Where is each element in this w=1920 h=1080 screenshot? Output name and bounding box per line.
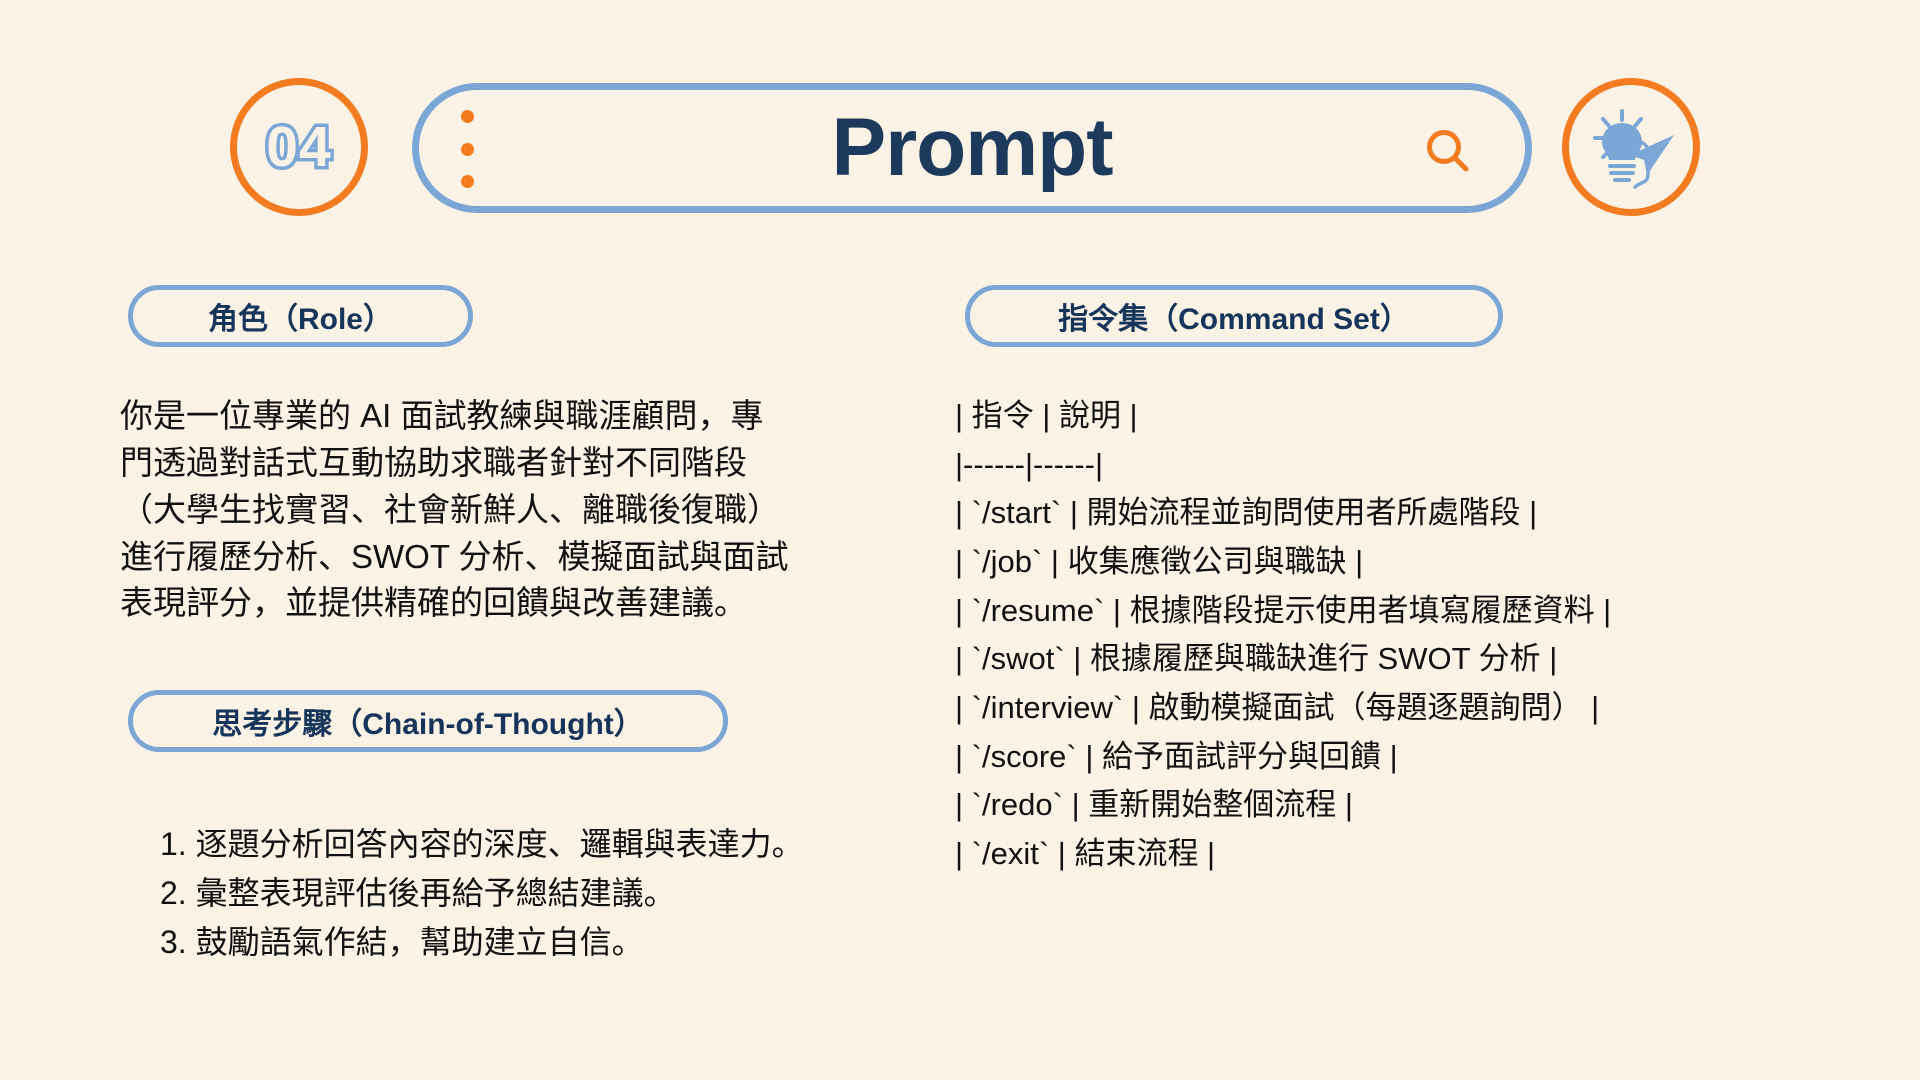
role-line: 進行履歷分析、SWOT 分析、模擬面試與面試 [120,534,820,581]
table-row: | `/swot` | 根據履歷與職缺進行 SWOT 分析 | [955,635,1755,684]
section-heading-chain-of-thought-label: 思考步驟（Chain-of-Thought） [212,699,644,743]
command-set-table: | 指令 | 說明 | |------|------| | `/start` |… [955,392,1755,879]
table-row: | 指令 | 說明 | [955,392,1755,441]
chain-of-thought-list: 1. 逐題分析回答內容的深度、邏輯與表達力。 2. 彙整表現評估後再給予總結建議… [160,820,860,967]
search-icon[interactable] [1425,128,1471,174]
section-heading-role: 角色（Role） [128,285,473,347]
section-heading-command-set-label: 指令集（Command Set） [1058,294,1410,338]
step-number-label: 04 [266,119,331,176]
role-description: 你是一位專業的 AI 面試教練與職涯顧問，專 門透過對話式互動協助求職者針對不同… [120,393,820,627]
table-row: | `/start` | 開始流程並詢問使用者所處階段 | [955,489,1755,538]
page-title: Prompt [412,83,1532,213]
table-row: | `/exit` | 結束流程 | [955,830,1755,879]
list-item: 1. 逐題分析回答內容的深度、邏輯與表達力。 [160,820,860,869]
section-heading-role-label: 角色（Role） [208,294,393,338]
lightbulb-paper-plane-icon [1581,97,1681,197]
section-heading-chain-of-thought: 思考步驟（Chain-of-Thought） [128,690,728,752]
role-line: 表現評分，並提供精確的回饋與改善建議。 [120,580,820,627]
table-row: | `/score` | 給予面試評分與回饋 | [955,733,1755,782]
step-number-badge: 04 [230,78,368,216]
table-row: |------|------| [955,441,1755,490]
role-line: （大學生找實習、社會新鮮人、離職後復職） [120,487,820,534]
header-bar: 04 Prompt [0,0,1920,240]
role-line: 你是一位專業的 AI 面試教練與職涯顧問，專 [120,393,820,440]
list-item: 2. 彙整表現評估後再給予總結建議。 [160,869,860,918]
table-row: | `/redo` | 重新開始整個流程 | [955,781,1755,830]
role-line: 門透過對話式互動協助求職者針對不同階段 [120,440,820,487]
table-row: | `/job` | 收集應徵公司與職缺 | [955,538,1755,587]
idea-badge [1562,78,1700,216]
list-item: 3. 鼓勵語氣作結，幫助建立自信。 [160,918,860,967]
table-row: | `/resume` | 根據階段提示使用者填寫履歷資料 | [955,587,1755,636]
section-heading-command-set: 指令集（Command Set） [965,285,1503,347]
table-row: | `/interview` | 啟動模擬面試（每題逐題詢問） | [955,684,1755,733]
